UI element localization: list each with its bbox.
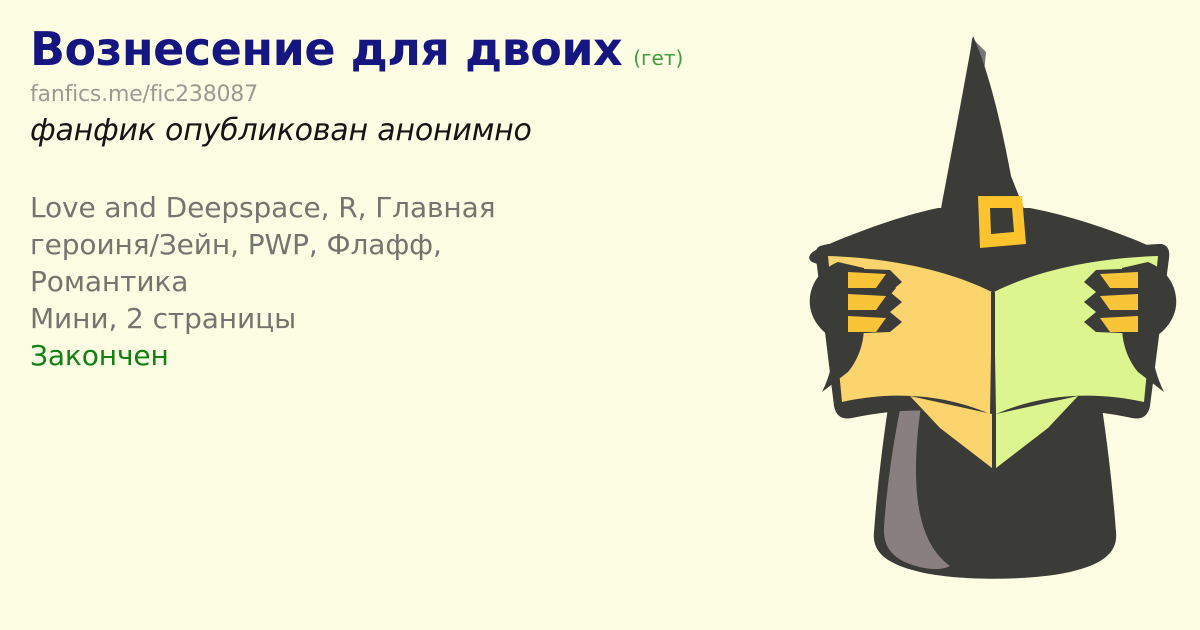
meta-line: Романтика xyxy=(30,263,820,300)
title-line: Вознесение для двоих (гет) xyxy=(30,22,820,76)
category-badge: (гет) xyxy=(633,46,683,70)
hat-cone-icon xyxy=(940,36,1026,214)
text-column: Вознесение для двоих (гет) fanfics.me/fi… xyxy=(30,22,820,374)
page-title: Вознесение для двоих xyxy=(30,22,622,76)
fanfic-preview-card: Вознесение для двоих (гет) fanfics.me/fi… xyxy=(0,0,1200,630)
author-line: фанфик опубликован анонимно xyxy=(30,111,820,151)
meta-line: Love and Deepspace, R, Главная xyxy=(30,189,820,226)
wizard-illustration-svg xyxy=(790,0,1200,630)
status-badge: Закончен xyxy=(30,337,820,374)
meta-line: Мини, 2 страницы xyxy=(30,300,820,337)
meta-line: героиня/Зейн, PWP, Флафф, xyxy=(30,226,820,263)
fic-url[interactable]: fanfics.me/fic238087 xyxy=(30,80,820,110)
metadata-block: Love and Deepspace, R, Главная героиня/З… xyxy=(30,189,820,374)
wizard-reading-book-illustration xyxy=(790,0,1200,630)
